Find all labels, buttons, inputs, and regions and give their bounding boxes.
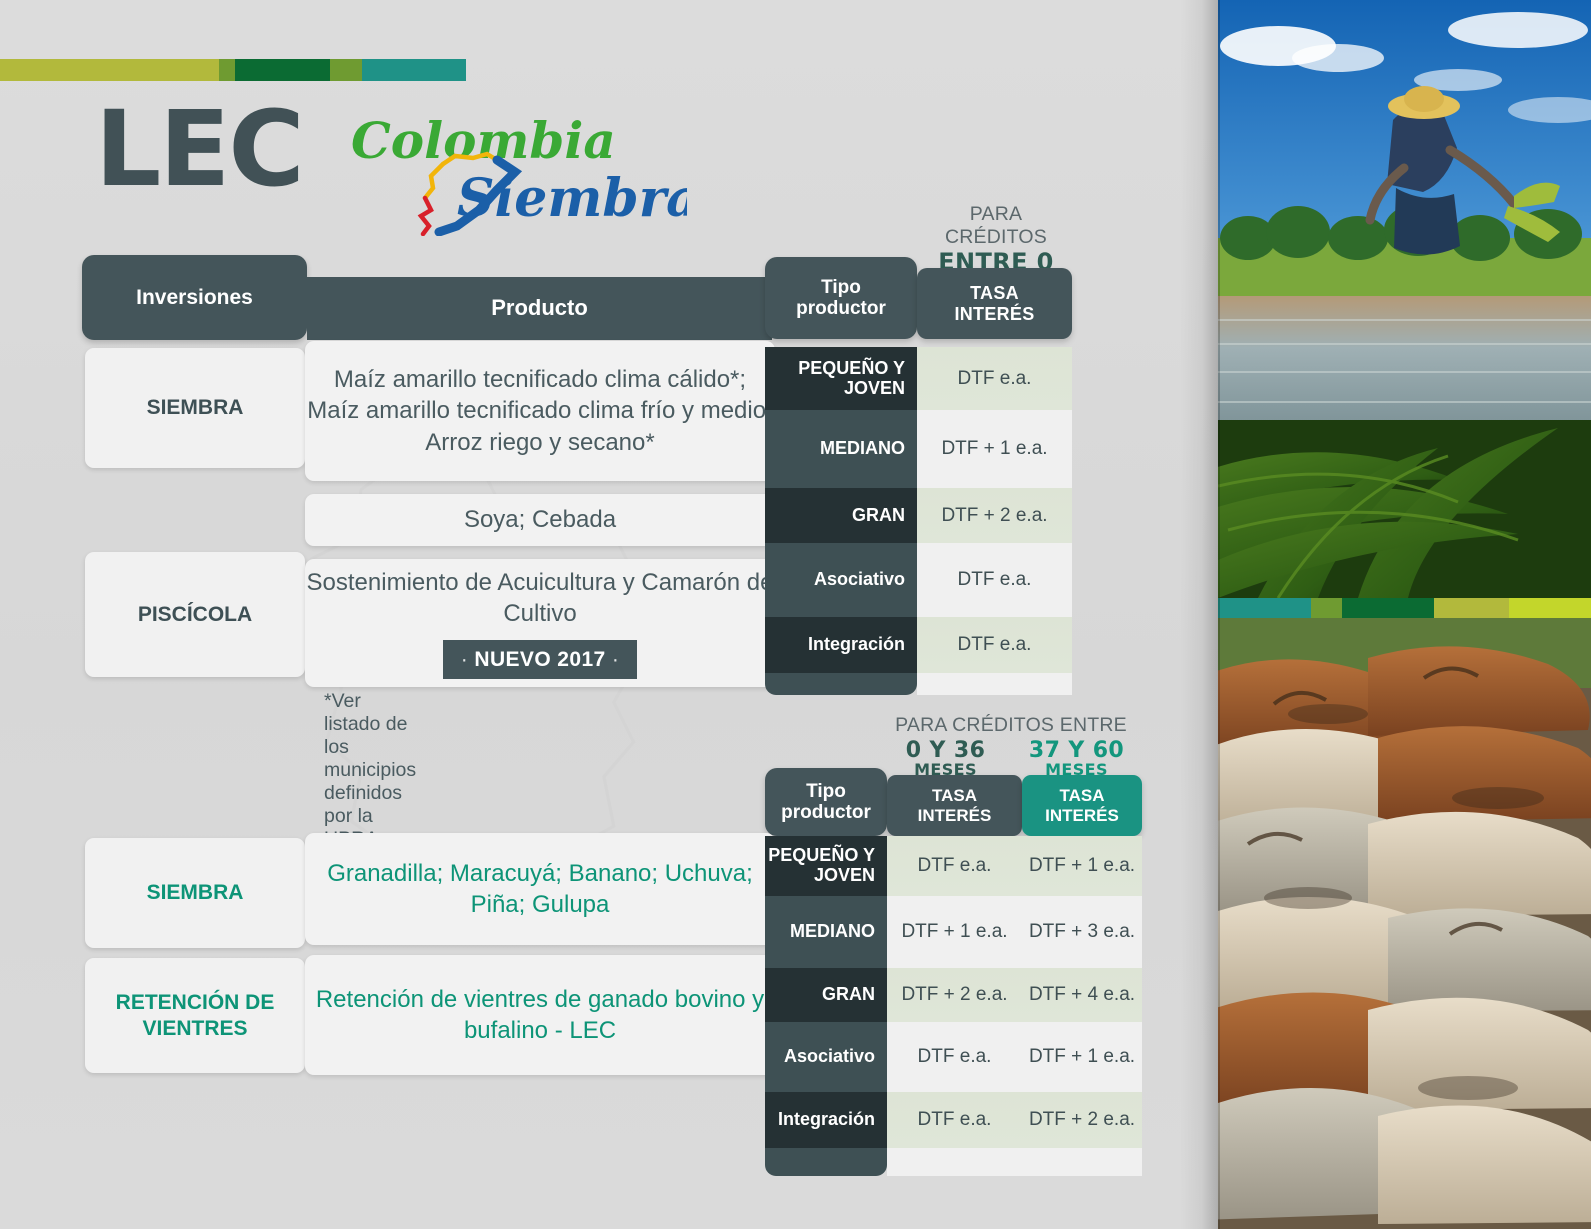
color-bar-segment [1509, 598, 1591, 618]
tasa-cell: DTF + 2 e.a. [1022, 1092, 1142, 1148]
tasa-column-tail [887, 1148, 1022, 1176]
color-bar-segment [219, 59, 235, 81]
tipo-productor-cell: PEQUEÑO YJOVEN [765, 836, 887, 896]
producto-card-1: Maíz amarillo tecnificado clima cálido*;… [305, 341, 775, 481]
inversion-card-retencion-vientres: RETENCIÓN DE VIENTRES [85, 958, 305, 1073]
producto-card-3-text: Sostenimiento de Acuicultura y Camarón d… [305, 567, 775, 629]
credit-caption-2-col-b: 37 Y 60 MESES [1011, 738, 1142, 779]
tipo-productor-cell: Asociativo [765, 543, 917, 617]
tasa-column-tail [917, 673, 1072, 695]
tasa-column-1: DTF e.a.DTF + 1 e.a.DTF + 2 e.a.DTF e.a.… [917, 347, 1072, 695]
tipo-productor-column-tail [765, 1148, 887, 1176]
brand-lockup: LEC Colombia Siembra [95, 100, 687, 236]
tasa-column-37-60: DTF + 1 e.a.DTF + 3 e.a.DTF + 4 e.a.DTF … [1022, 836, 1142, 1176]
color-bar-segment [1434, 598, 1509, 618]
tipo-productor-cell: Integración [765, 617, 917, 673]
inversion-card-siembra-1: SIEMBRA [85, 348, 305, 468]
producto-card-4-text: Granadilla; Maracuyá; Banano; Uchuva; Pi… [305, 858, 775, 920]
credit-caption-1-line1: PARA CRÉDITOS [917, 203, 1075, 249]
producto-card-3: Sostenimiento de Acuicultura y Camarón d… [305, 559, 775, 687]
color-bar-segment [362, 59, 466, 81]
content-panel: LEC Colombia Siembra PARA CRÉDITOS ENTRE… [0, 0, 1218, 1229]
credit-caption-2-line1: PARA CRÉDITOS ENTRE [880, 714, 1142, 737]
color-bar-segment [1311, 598, 1342, 618]
tasa-cell: DTF + 2 e.a. [887, 968, 1022, 1022]
producto-card-5: Retención de vientres de ganado bovino y… [305, 955, 775, 1075]
tasa-cell: DTF e.a. [917, 617, 1072, 673]
producto-card-2-text: Soya; Cebada [464, 504, 616, 535]
tasa-cell: DTF + 1 e.a. [1022, 1022, 1142, 1092]
rice-farmer-photo [1218, 0, 1591, 598]
footnote-upra: *Ver listado de los municipios definidos… [324, 690, 416, 851]
infographic-page: LEC Colombia Siembra PARA CRÉDITOS ENTRE… [0, 0, 1591, 1229]
nuevo-2017-badge: · NUEVO 2017 · [443, 640, 638, 679]
credit-caption-2: PARA CRÉDITOS ENTRE 0 Y 36 MESES 37 Y 60… [880, 714, 1142, 779]
producto-card-2: Soya; Cebada [305, 494, 775, 546]
producto-card-1-text: Maíz amarillo tecnificado clima cálido*;… [305, 364, 775, 458]
tasa-cell: DTF e.a. [887, 1022, 1022, 1092]
lec-wordmark: LEC [95, 100, 303, 199]
cattle-herd-photo [1218, 618, 1591, 1229]
tasa-cell: DTF + 3 e.a. [1022, 896, 1142, 968]
color-bar-segment [330, 59, 362, 81]
tipo-productor-cell: GRAN [765, 968, 887, 1022]
badge-label: NUEVO 2017 [474, 648, 605, 671]
producto-card-4: Granadilla; Maracuyá; Banano; Uchuva; Pi… [305, 833, 775, 945]
tasa-cell: DTF + 2 e.a. [917, 488, 1072, 543]
colombia-siembra-logo: Colombia Siembra [347, 106, 687, 236]
tipo-productor-cell: Integración [765, 1092, 887, 1148]
svg-text:Siembra: Siembra [457, 168, 687, 229]
tipo-productor-column-tail [765, 673, 917, 695]
color-bar-segment [1342, 598, 1434, 618]
tipo-productor-cell: GRAN [765, 488, 917, 543]
top-color-bar [0, 59, 466, 81]
inversion-card-siembra-2: SIEMBRA [85, 838, 305, 948]
header-tipo-productor-1: Tipoproductor [765, 257, 917, 339]
header-tipo-productor-2: Tipoproductor [765, 768, 887, 836]
tipo-productor-cell: MEDIANO [765, 896, 887, 968]
tasa-cell: DTF e.a. [917, 543, 1072, 617]
header-tasa-interes-37-60: TASAINTERÉS [1022, 775, 1142, 836]
tipo-productor-cell: PEQUEÑO YJOVEN [765, 347, 917, 410]
badge-dot-right: · [612, 648, 619, 671]
tasa-cell: DTF + 1 e.a. [917, 410, 1072, 488]
inversion-card-piscicola-1: PISCÍCOLA [85, 552, 305, 677]
header-tasa-interes-1: TASAINTERÉS [917, 268, 1072, 339]
svg-text:Colombia: Colombia [351, 111, 616, 170]
badge-dot-left: · [461, 648, 468, 671]
header-producto-1: Producto [307, 277, 772, 340]
color-bar-segment [1218, 598, 1311, 618]
tasa-column-0-36: DTF e.a.DTF + 1 e.a.DTF + 2 e.a.DTF e.a.… [887, 836, 1022, 1176]
tipo-productor-column-1: PEQUEÑO YJOVENMEDIANOGRANAsociativoInteg… [765, 347, 917, 695]
credit-caption-2-col-a: 0 Y 36 MESES [880, 738, 1011, 779]
color-bar-segment [0, 59, 219, 81]
photo-divider-color-bar [1218, 598, 1591, 618]
tasa-cell: DTF e.a. [917, 347, 1072, 410]
tasa-cell: DTF e.a. [887, 1092, 1022, 1148]
tasa-cell: DTF + 1 e.a. [1022, 836, 1142, 896]
photo-column [1218, 0, 1591, 1229]
header-inversiones-1: Inversiones [82, 255, 307, 340]
color-bar-segment [235, 59, 330, 81]
header-tasa-interes-0-36: TASAINTERÉS [887, 775, 1022, 836]
producto-card-5-text: Retención de vientres de ganado bovino y… [305, 984, 775, 1046]
tipo-productor-column-2: PEQUEÑO YJOVENMEDIANOGRANAsociativoInteg… [765, 836, 887, 1176]
tipo-productor-cell: MEDIANO [765, 410, 917, 488]
tasa-cell: DTF e.a. [887, 836, 1022, 896]
tasa-cell: DTF + 4 e.a. [1022, 968, 1142, 1022]
tasa-cell: DTF + 1 e.a. [887, 896, 1022, 968]
tasa-column-tail [1022, 1148, 1142, 1176]
tipo-productor-cell: Asociativo [765, 1022, 887, 1092]
